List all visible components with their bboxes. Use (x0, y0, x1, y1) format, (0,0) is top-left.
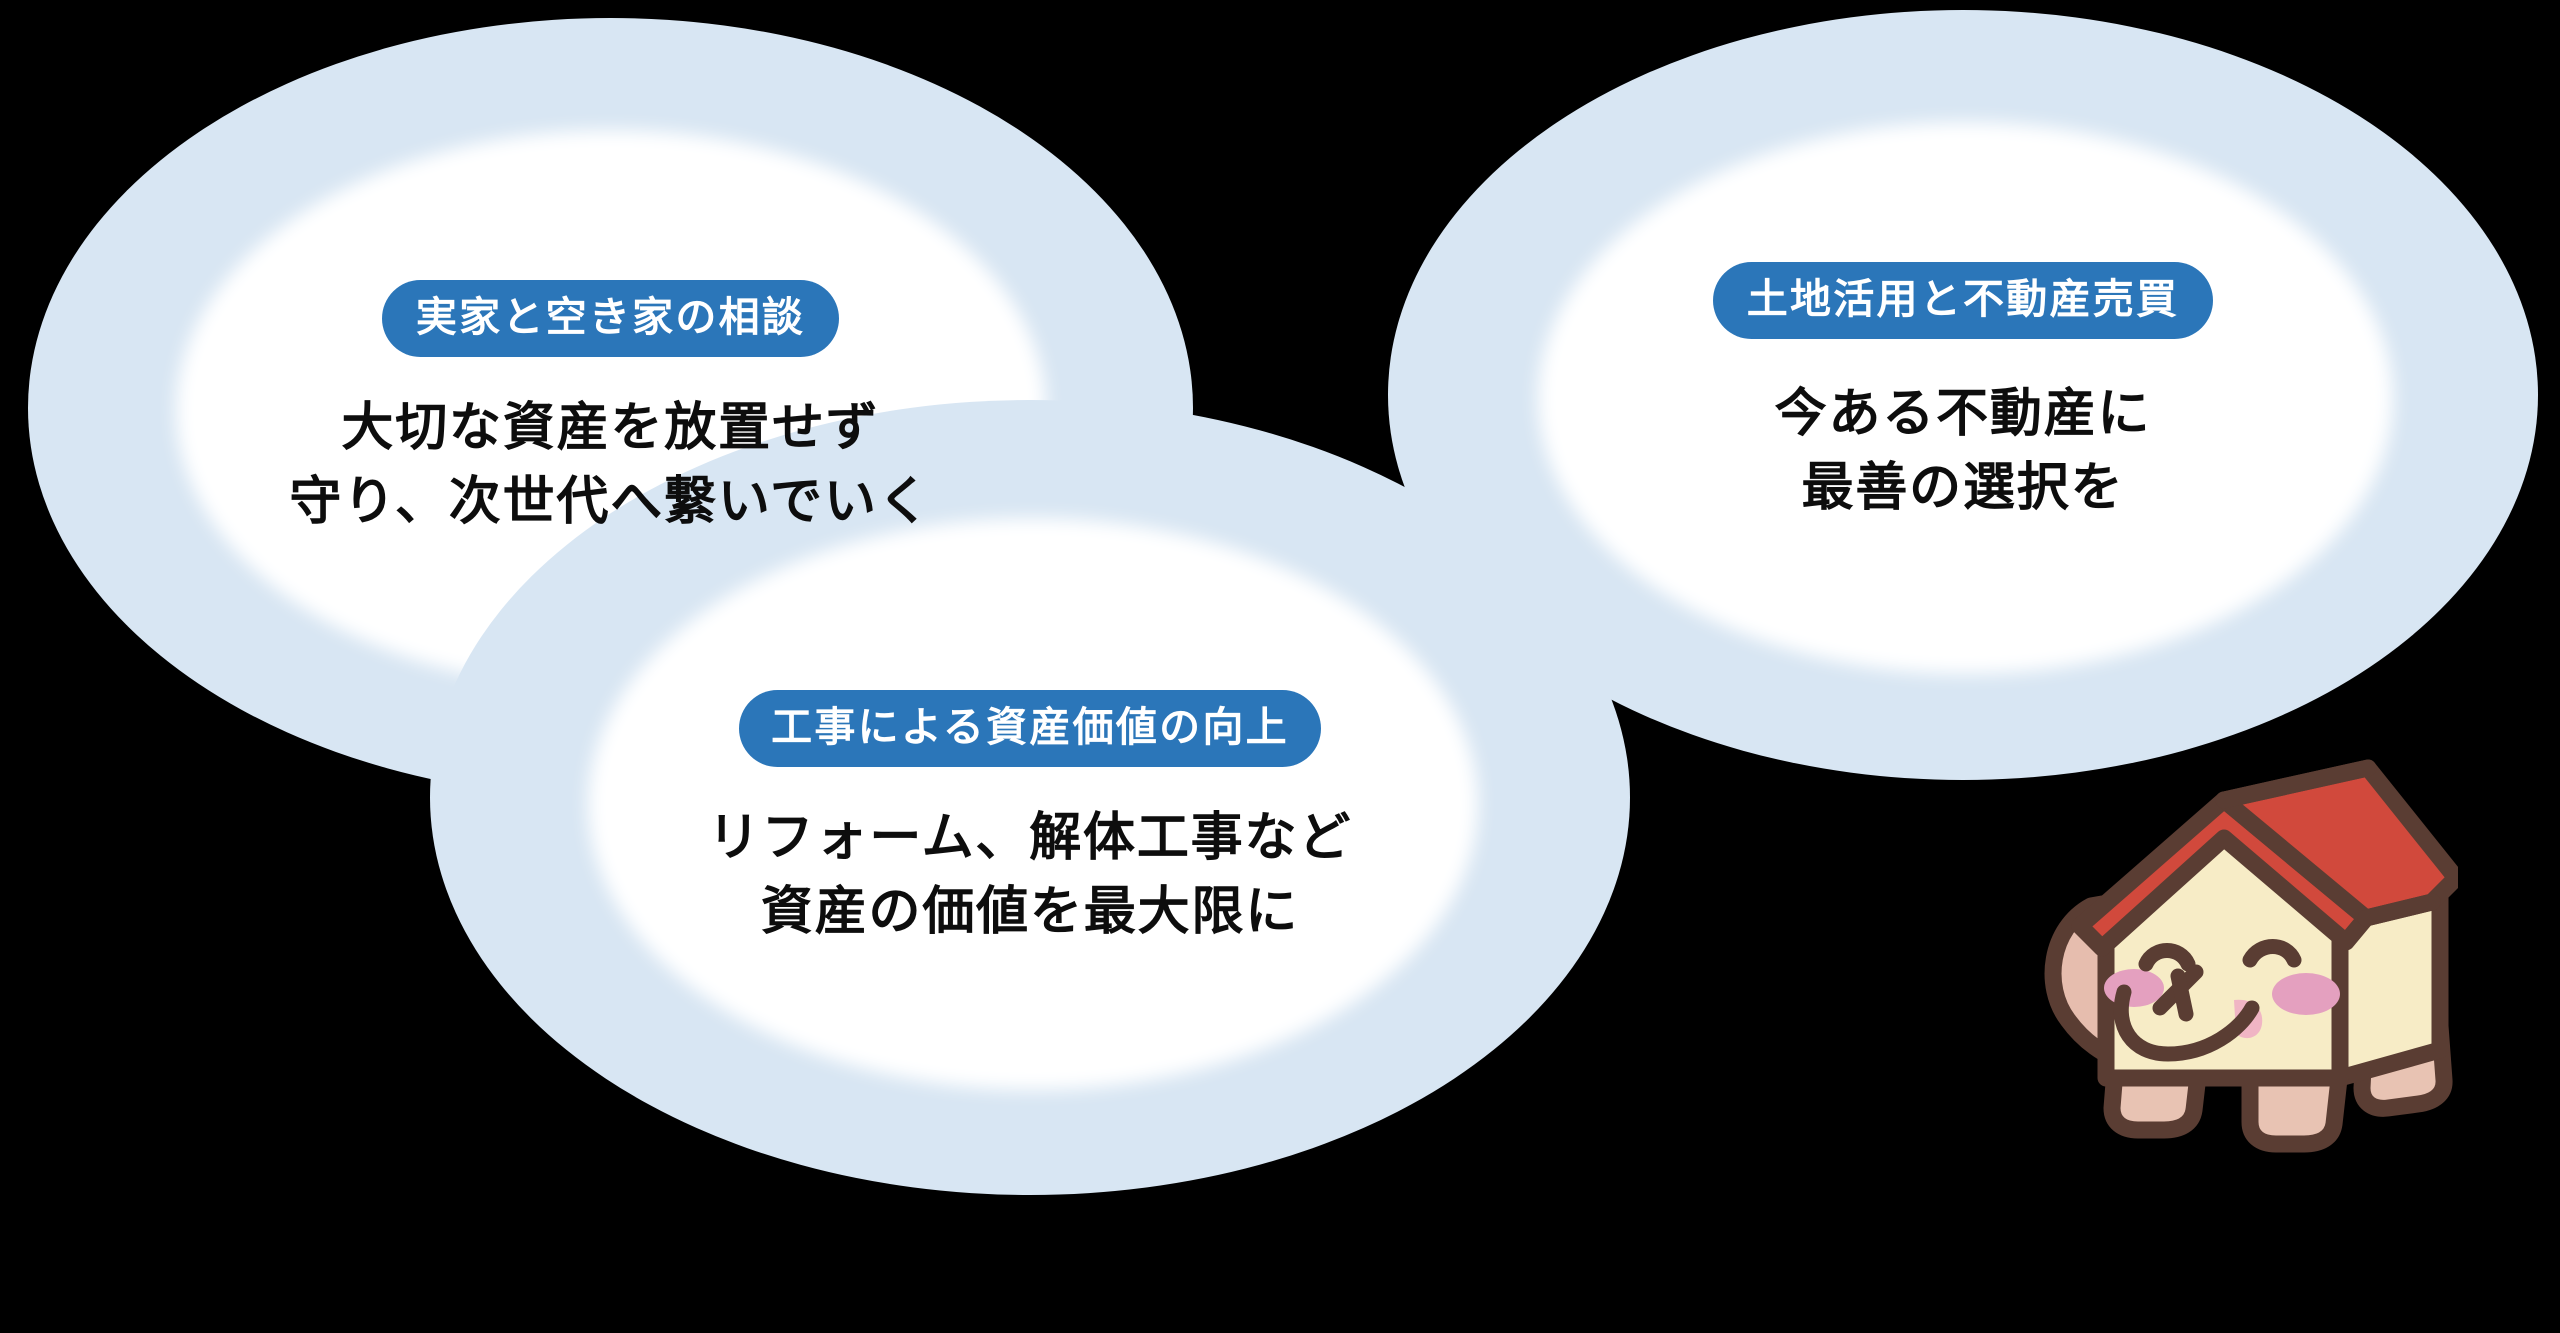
bubble-content: 土地活用と不動産売買 今ある不動産に 最善の選択を (1388, 262, 2538, 520)
bubble-content: 工事による資産価値の向上 リフォーム、解体工事など 資産の価値を最大限に (430, 690, 1630, 944)
illustration-canvas: 実家と空き家の相談 大切な資産を放置せず 守り、次世代へ繋いでいく 土地活用と不… (0, 0, 2560, 1333)
bubble-badge-land[interactable]: 土地活用と不動産売買 (1713, 262, 2214, 339)
bubble-body-line: 大切な資産を放置せず (289, 397, 931, 460)
bubble-badge-home[interactable]: 実家と空き家の相談 (382, 280, 839, 357)
bubble-body-line: 資産の価値を最大限に (708, 881, 1352, 944)
bubble-body-reform: リフォーム、解体工事など 資産の価値を最大限に (708, 807, 1352, 944)
blush-right (2272, 973, 2340, 1015)
bubble-content: 実家と空き家の相談 大切な資産を放置せず 守り、次世代へ繋いでいく (28, 280, 1193, 534)
bubble-body-line: 今ある不動産に (1775, 383, 2152, 446)
bubble-body-line: リフォーム、解体工事など (708, 807, 1352, 870)
bubble-body-land: 今ある不動産に 最善の選択を (1775, 383, 2152, 520)
bubble-badge-reform[interactable]: 工事による資産価値の向上 (739, 690, 1321, 767)
blush-left (2104, 969, 2164, 1007)
bubble-body-line: 守り、次世代へ繋いでいく (289, 471, 931, 534)
house-character-mascot-icon (2028, 758, 2458, 1168)
bubble-body-line: 最善の選択を (1775, 457, 2152, 520)
bubble-body-home: 大切な資産を放置せず 守り、次世代へ繋いでいく (289, 397, 931, 534)
